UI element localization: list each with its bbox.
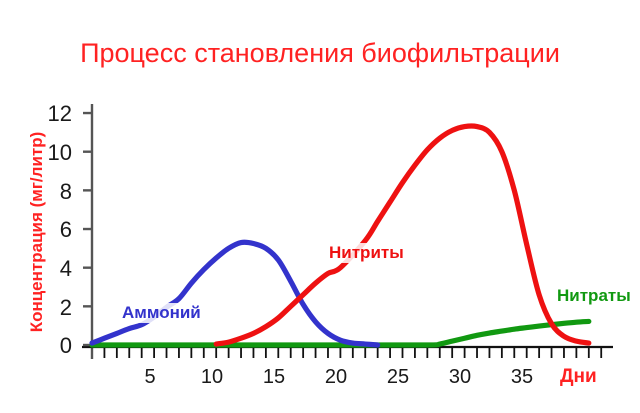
plot-area bbox=[0, 0, 640, 413]
series-label-nitrates: Нитраты bbox=[555, 286, 633, 306]
series-label-nitrites: Нитриты bbox=[327, 243, 406, 263]
series-label-ammonium: Аммоний bbox=[120, 303, 203, 323]
series-line-nitrites bbox=[216, 126, 589, 344]
chart-canvas: Процесс становления биофильтрации Концен… bbox=[0, 0, 640, 413]
